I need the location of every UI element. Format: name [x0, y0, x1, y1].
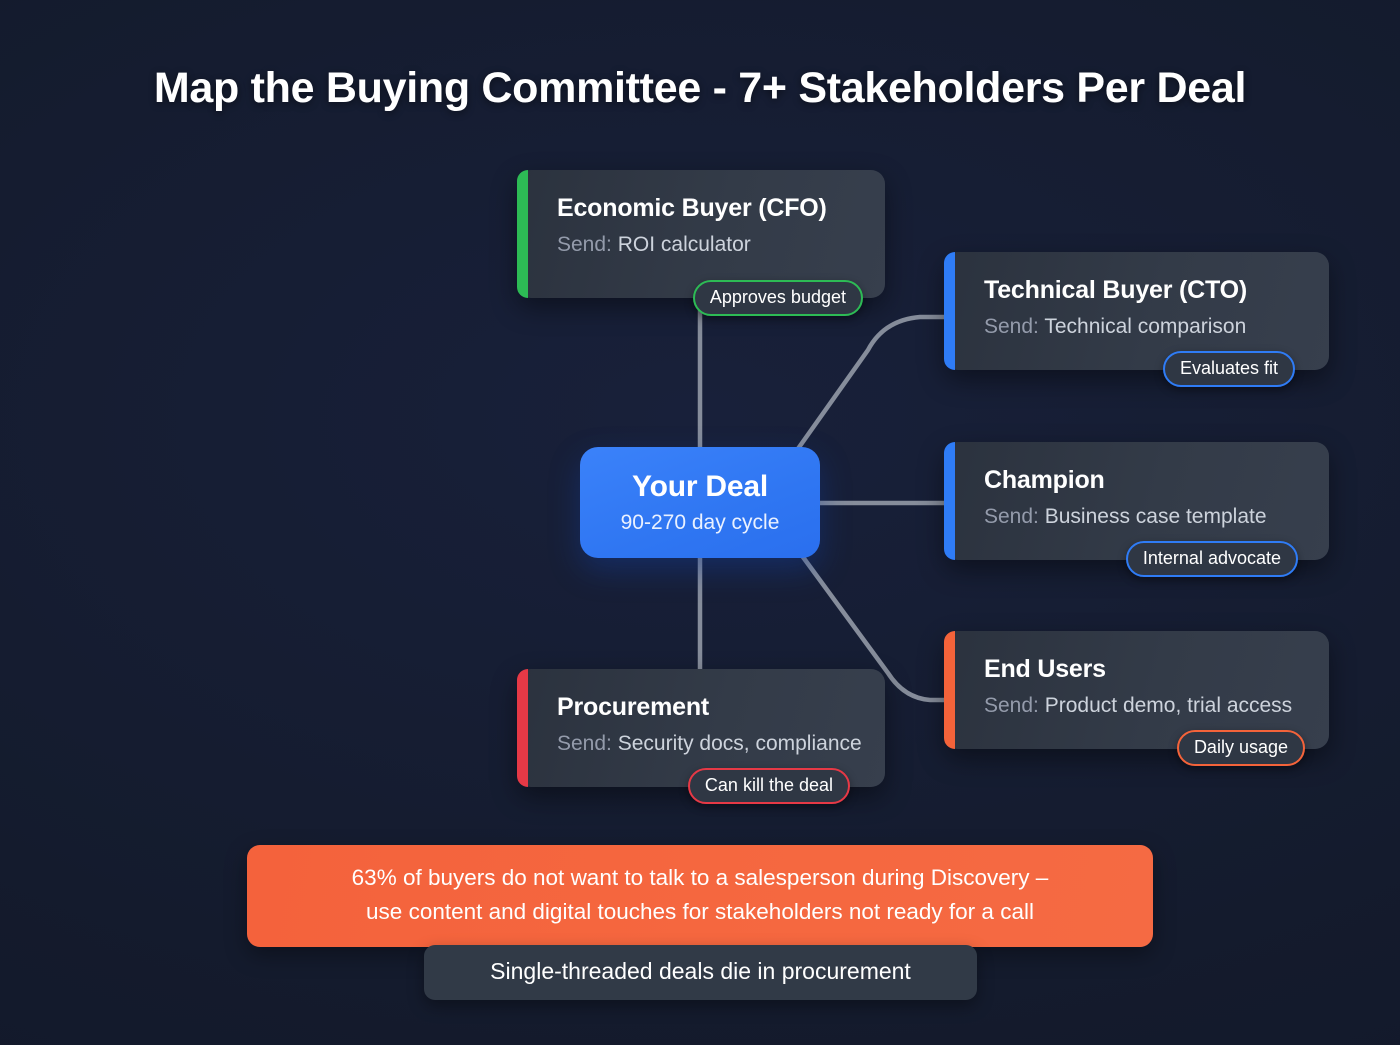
card-body: Technical Buyer (CTO) Send: Technical co…: [944, 252, 1329, 365]
stakeholder-card-end-users[interactable]: End Users Send: Product demo, trial acce…: [944, 631, 1329, 749]
connector-center-to-technical-buyer: [790, 317, 944, 460]
stat-banner-line-1: 63% of buyers do not want to talk to a s…: [277, 861, 1123, 895]
send-value: Security docs, compliance: [618, 732, 862, 755]
stat-banner: 63% of buyers do not want to talk to a s…: [247, 845, 1153, 947]
send-value: Product demo, trial access: [1045, 694, 1292, 717]
send-label: Send:: [557, 732, 612, 755]
stakeholder-role: Technical Buyer (CTO): [984, 276, 1303, 305]
diagram-canvas: Map the Buying Committee - 7+ Stakeholde…: [0, 0, 1400, 1045]
stakeholder-badge-technical-buyer[interactable]: Evaluates fit: [1163, 351, 1295, 387]
send-value: ROI calculator: [618, 233, 751, 256]
tagline-pill: Single-threaded deals die in procurement: [424, 945, 977, 1000]
stat-banner-line-2: use content and digital touches for stak…: [277, 895, 1123, 929]
card-body: End Users Send: Product demo, trial acce…: [944, 631, 1329, 744]
stakeholder-badge-procurement[interactable]: Can kill the deal: [688, 768, 850, 804]
send-value: Technical comparison: [1044, 315, 1246, 338]
center-node-your-deal[interactable]: Your Deal 90-270 day cycle: [580, 447, 820, 558]
center-node-subtitle: 90-270 day cycle: [621, 511, 780, 535]
stakeholder-card-technical-buyer[interactable]: Technical Buyer (CTO) Send: Technical co…: [944, 252, 1329, 370]
card-body: Champion Send: Business case template: [944, 442, 1329, 555]
card-body: Procurement Send: Security docs, complia…: [517, 669, 885, 782]
stakeholder-card-economic-buyer[interactable]: Economic Buyer (CFO) Send: ROI calculato…: [517, 170, 885, 298]
send-label: Send:: [984, 315, 1039, 338]
accent-bar-champion: [944, 442, 955, 560]
accent-bar-procurement: [517, 669, 528, 787]
stakeholder-badge-champion[interactable]: Internal advocate: [1126, 541, 1298, 577]
stakeholder-role: Economic Buyer (CFO): [557, 194, 859, 223]
accent-bar-end-users: [944, 631, 955, 749]
accent-bar-economic-buyer: [517, 170, 528, 298]
stakeholder-role: Procurement: [557, 693, 859, 722]
stakeholder-send: Send: Technical comparison: [984, 314, 1303, 339]
stakeholder-send: Send: Product demo, trial access: [984, 693, 1303, 718]
page-title: Map the Buying Committee - 7+ Stakeholde…: [0, 64, 1400, 113]
send-label: Send:: [984, 694, 1039, 717]
stakeholder-send: Send: ROI calculator: [557, 232, 859, 257]
stakeholder-badge-end-users[interactable]: Daily usage: [1177, 730, 1305, 766]
stakeholder-badge-economic-buyer[interactable]: Approves budget: [693, 280, 863, 316]
stakeholder-send: Send: Security docs, compliance: [557, 731, 859, 756]
stakeholder-role: End Users: [984, 655, 1303, 684]
stakeholder-send: Send: Business case template: [984, 504, 1303, 529]
stakeholder-card-champion[interactable]: Champion Send: Business case template In…: [944, 442, 1329, 560]
send-label: Send:: [984, 505, 1039, 528]
card-body: Economic Buyer (CFO) Send: ROI calculato…: [517, 170, 885, 283]
stakeholder-role: Champion: [984, 466, 1303, 495]
center-node-title: Your Deal: [632, 470, 768, 504]
send-value: Business case template: [1045, 505, 1267, 528]
accent-bar-technical-buyer: [944, 252, 955, 370]
stakeholder-card-procurement[interactable]: Procurement Send: Security docs, complia…: [517, 669, 885, 787]
send-label: Send:: [557, 233, 612, 256]
